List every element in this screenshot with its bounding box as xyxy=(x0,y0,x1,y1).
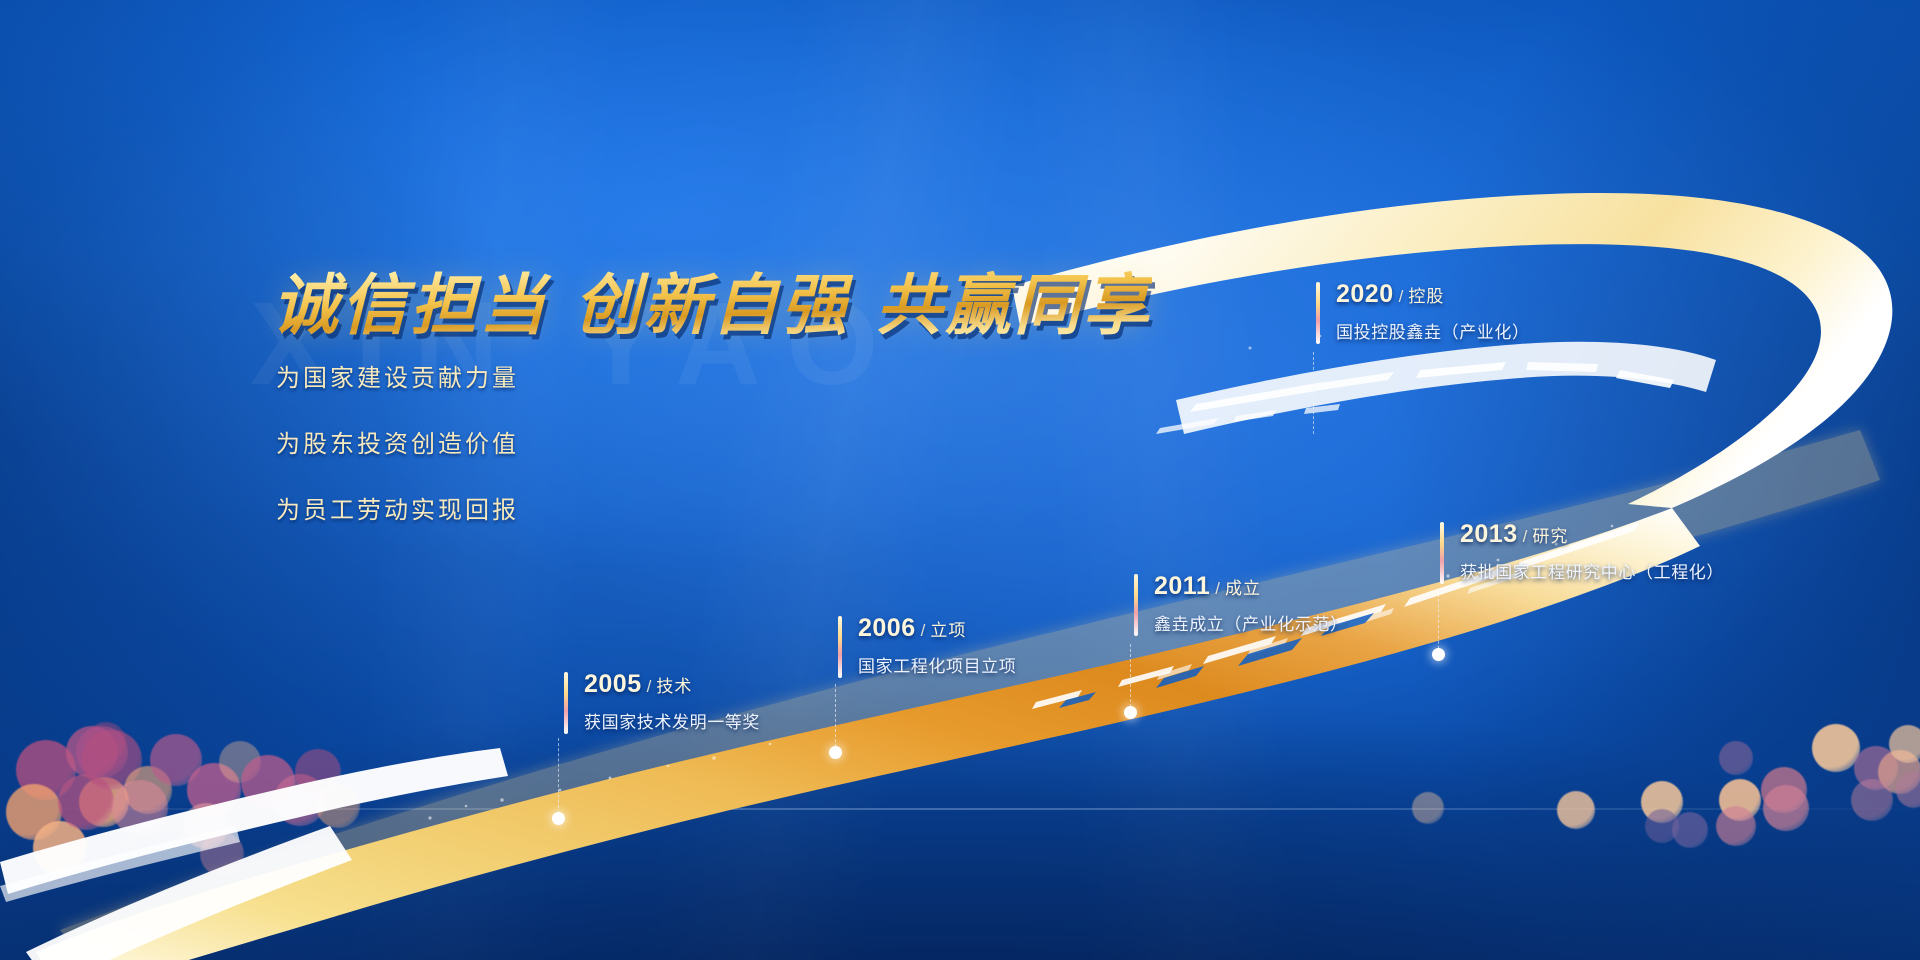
milestone-separator: / xyxy=(647,677,652,696)
leader-line-2006 xyxy=(835,684,836,752)
leader-line-2005 xyxy=(558,738,559,818)
milestone-tag: 控股 xyxy=(1408,287,1444,306)
milestone-heading: 2011/成立 xyxy=(1154,574,1348,599)
leader-line-2011 xyxy=(1130,644,1131,712)
timeline-dot-2005 xyxy=(552,812,565,825)
milestone-year: 2005 xyxy=(584,670,642,698)
milestone-separator: / xyxy=(1215,579,1220,598)
timeline-dot-2013 xyxy=(1432,648,1445,661)
timeline-dot-2006 xyxy=(829,746,842,759)
leader-line-2013 xyxy=(1438,594,1439,654)
milestone-description: 获批国家工程研究中心（工程化） xyxy=(1460,558,1724,583)
milestone-year: 2020 xyxy=(1336,280,1394,308)
milestone-heading: 2006/立项 xyxy=(858,616,1016,641)
headline-part-3: 共赢同享 xyxy=(876,270,1152,343)
milestone-description: 国家工程化项目立项 xyxy=(858,652,1016,677)
milestone-description: 获国家技术发明一等奖 xyxy=(584,708,760,733)
timeline-milestone-2013[interactable]: 2013/研究 获批国家工程研究中心（工程化） xyxy=(1440,522,1724,583)
subtitle-list: 为国家建设贡献力量 为股东投资创造价值 为员工劳动实现回报 xyxy=(276,358,519,556)
milestone-separator: / xyxy=(1523,527,1528,546)
timeline-milestone-2006[interactable]: 2006/立项 国家工程化项目立项 xyxy=(838,616,1016,677)
timeline-dot-2011 xyxy=(1124,706,1137,719)
milestone-accent-bar xyxy=(838,616,842,678)
milestone-separator: / xyxy=(1399,287,1404,306)
milestone-accent-bar xyxy=(564,672,568,734)
milestone-tag: 研究 xyxy=(1532,527,1568,546)
milestone-separator: / xyxy=(921,621,926,640)
banner-stage: XIN YAO 诚信担当创新自强共赢同享 为国家建设贡献力量 为股东投资创造价值… xyxy=(0,0,1920,960)
timeline-milestone-2020[interactable]: 2020/控股 国投控股鑫垚（产业化） xyxy=(1316,282,1530,343)
milestone-description: 国投控股鑫垚（产业化） xyxy=(1336,318,1530,343)
leader-line-2020 xyxy=(1313,352,1314,434)
milestone-heading: 2013/研究 xyxy=(1460,522,1724,547)
milestone-year: 2011 xyxy=(1154,572,1210,600)
milestone-heading: 2020/控股 xyxy=(1336,282,1530,307)
timeline-milestone-2005[interactable]: 2005/技术 获国家技术发明一等奖 xyxy=(564,672,760,733)
subtitle-line: 为国家建设贡献力量 xyxy=(276,358,519,393)
milestone-accent-bar xyxy=(1440,522,1444,584)
page-title: 诚信担当创新自强共赢同享 xyxy=(272,252,1152,348)
milestone-accent-bar xyxy=(1134,574,1138,636)
milestone-accent-bar xyxy=(1316,282,1320,344)
milestone-tag: 立项 xyxy=(930,621,966,640)
milestone-year: 2013 xyxy=(1460,520,1518,548)
milestone-description: 鑫垚成立（产业化示范） xyxy=(1154,610,1348,635)
milestone-tag: 成立 xyxy=(1225,579,1261,598)
milestone-heading: 2005/技术 xyxy=(584,672,760,697)
milestone-tag: 技术 xyxy=(656,677,692,696)
headline-part-1: 诚信担当 xyxy=(272,270,548,343)
milestone-year: 2006 xyxy=(858,614,916,642)
subtitle-line: 为员工劳动实现回报 xyxy=(276,490,519,525)
subtitle-line: 为股东投资创造价值 xyxy=(276,424,519,459)
headline-part-2: 创新自强 xyxy=(574,270,850,343)
timeline-milestone-2011[interactable]: 2011/成立 鑫垚成立（产业化示范） xyxy=(1134,574,1348,635)
